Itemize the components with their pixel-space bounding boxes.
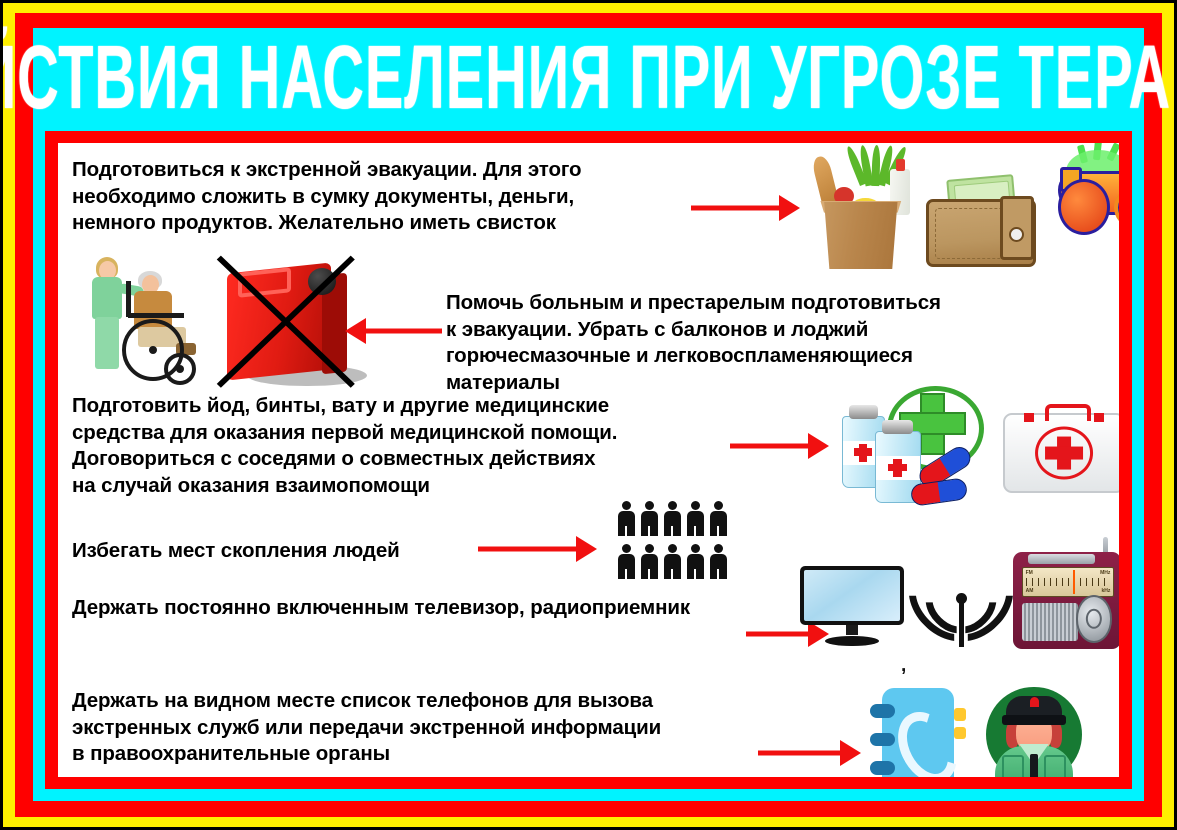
whistle — [1048, 145, 1119, 231]
kit-handle — [1045, 404, 1091, 421]
line: Подготовить йод, бинты, вату и другие ме… — [72, 393, 762, 420]
prohibition-cross-icon — [213, 252, 359, 391]
vial-cap — [882, 420, 913, 434]
arrow-shaft — [730, 444, 811, 449]
wheelchair-back — [126, 281, 131, 317]
first-aid-kit-illustration — [1003, 401, 1119, 489]
person-icon — [662, 544, 682, 585]
nurse-with-wheelchair — [76, 253, 208, 389]
wallet — [924, 175, 1032, 269]
person-icon — [708, 544, 728, 585]
red-cross-horizontal — [854, 448, 872, 456]
person-icon — [685, 501, 705, 542]
arrow-head — [840, 740, 861, 766]
nurse-wheelchair-illustration — [76, 253, 208, 389]
radio-speaker-grille — [1022, 603, 1078, 642]
radio-fm-unit: MHz — [1100, 570, 1110, 576]
uniform-pocket — [1002, 755, 1024, 777]
arrow-shaft — [363, 329, 442, 334]
item-text-evacuation-prep: Подготовиться к экстренной эвакуации. Дл… — [72, 157, 712, 237]
arrow-head — [576, 536, 597, 562]
radio-am-unit: kHz — [1101, 588, 1110, 594]
red-cross-horizontal — [888, 464, 907, 472]
line: немного продуктов. Желательно иметь свис… — [72, 210, 712, 237]
radio-fm-label: FM — [1026, 570, 1033, 576]
arrow-shaft — [758, 751, 843, 756]
police-officer — [980, 683, 1088, 777]
kit-latch — [1094, 413, 1105, 422]
portable-radio: FM MHz AM kHz — [1013, 541, 1119, 649]
crowd-pictogram — [616, 501, 728, 585]
medical-supplies-illustration — [833, 383, 983, 509]
line: Избегать мест скопления людей — [72, 538, 492, 565]
nurse-legs — [95, 317, 119, 369]
cap-badge-icon — [1030, 697, 1040, 707]
radio-volume-knob[interactable] — [1076, 595, 1112, 642]
radio-am-row: AM kHz — [1023, 587, 1114, 596]
line: экстренных служб или передачи экстренной… — [72, 715, 812, 742]
radio-fm-row: FM MHz — [1023, 568, 1114, 577]
line: в правоохранительные органы — [72, 741, 812, 768]
kit-cross-ring — [1035, 427, 1093, 480]
wheelchair-small-wheel — [164, 353, 196, 385]
person-icon — [662, 501, 682, 542]
antenna-mast — [959, 603, 964, 647]
television — [800, 566, 904, 646]
kit-latch — [1024, 413, 1035, 422]
arrow-head — [808, 433, 829, 459]
grocery-bag-illustration — [803, 149, 921, 269]
tv-neck — [846, 625, 858, 635]
police-officer-illustration — [980, 683, 1088, 777]
item-text-medical-supplies: Подготовить йод, бинты, вату и другие ме… — [72, 393, 762, 500]
radio-illustration: FM MHz AM kHz — [1013, 541, 1119, 649]
line: средства для оказания первой медицинской… — [72, 420, 762, 447]
stray-comma-mark: , — [901, 655, 906, 677]
phone-directory — [870, 688, 966, 777]
line: на случай оказания взаимопомощи — [72, 473, 762, 500]
line: к эвакуации. Убрать с балконов и лоджий — [446, 317, 1119, 344]
medicine-group — [833, 383, 983, 509]
tv-base — [825, 636, 879, 646]
broadcast-waves-icon — [914, 551, 1008, 647]
radio-top-bar — [1028, 554, 1095, 564]
first-aid-kit — [1003, 413, 1119, 493]
arrow-shaft — [691, 206, 782, 211]
item-text-avoid-crowds: Избегать мест скопления людей — [72, 538, 492, 565]
person-icon — [616, 501, 636, 542]
jerry-can-prohibited — [216, 255, 356, 389]
wallet-illustration — [924, 175, 1032, 269]
jerry-can-illustration — [216, 255, 356, 389]
vial-cap — [849, 405, 878, 419]
cap-brim — [1002, 715, 1067, 725]
radio-tick-strip — [1026, 578, 1111, 586]
radio-am-label: AM — [1026, 588, 1034, 594]
arrow-head — [345, 318, 366, 344]
person-icon — [685, 544, 705, 585]
item-text-help-sick-elderly: Помочь больным и престарелым подготовить… — [446, 290, 1119, 397]
red-cross-horizontal — [1045, 447, 1082, 460]
arrow-head — [779, 195, 800, 221]
radio-dial: FM MHz AM kHz — [1022, 567, 1115, 597]
item-text-emergency-phone-list: Держать на видном месте список телефонов… — [72, 688, 812, 768]
whistle-illustration — [1048, 145, 1119, 231]
nurse-body — [92, 277, 122, 319]
officer-tie — [1030, 754, 1038, 777]
phone-directory-illustration — [870, 688, 966, 777]
item-text-keep-tv-radio-on: Держать постоянно включенным телевизор, … — [72, 595, 812, 622]
grocery-bag — [803, 149, 921, 269]
arrow-shaft — [478, 547, 579, 552]
line: Держать на видном месте список телефонов… — [72, 688, 812, 715]
person-icon — [616, 544, 636, 585]
bag-body — [817, 202, 904, 269]
uniform-pocket — [1044, 755, 1066, 777]
line: Помочь больным и престарелым подготовить… — [446, 290, 1119, 317]
content-panel: Подготовиться к экстренной эвакуации. Дл… — [58, 143, 1119, 777]
tv-screen — [800, 566, 904, 625]
wheelchair-frame — [128, 313, 184, 318]
line: горючесмазочные и легковоспламеняющиеся — [446, 343, 1119, 370]
television-illustration — [800, 566, 904, 646]
poster-root: ДЕЙСТВИЯ НАСЕЛЕНИЯ ПРИ УГРОЗЕ ТЕРАКТА По… — [0, 0, 1177, 830]
line: необходимо сложить в сумку документы, де… — [72, 184, 712, 211]
line: Договориться с соседями о совместных дей… — [72, 446, 762, 473]
person-icon — [639, 544, 659, 585]
line: Подготовиться к экстренной эвакуации. Дл… — [72, 157, 712, 184]
person-icon — [708, 501, 728, 542]
person-icon — [639, 501, 659, 542]
whistle-chamber — [1058, 179, 1110, 235]
line: Держать постоянно включенным телевизор, … — [72, 595, 812, 622]
